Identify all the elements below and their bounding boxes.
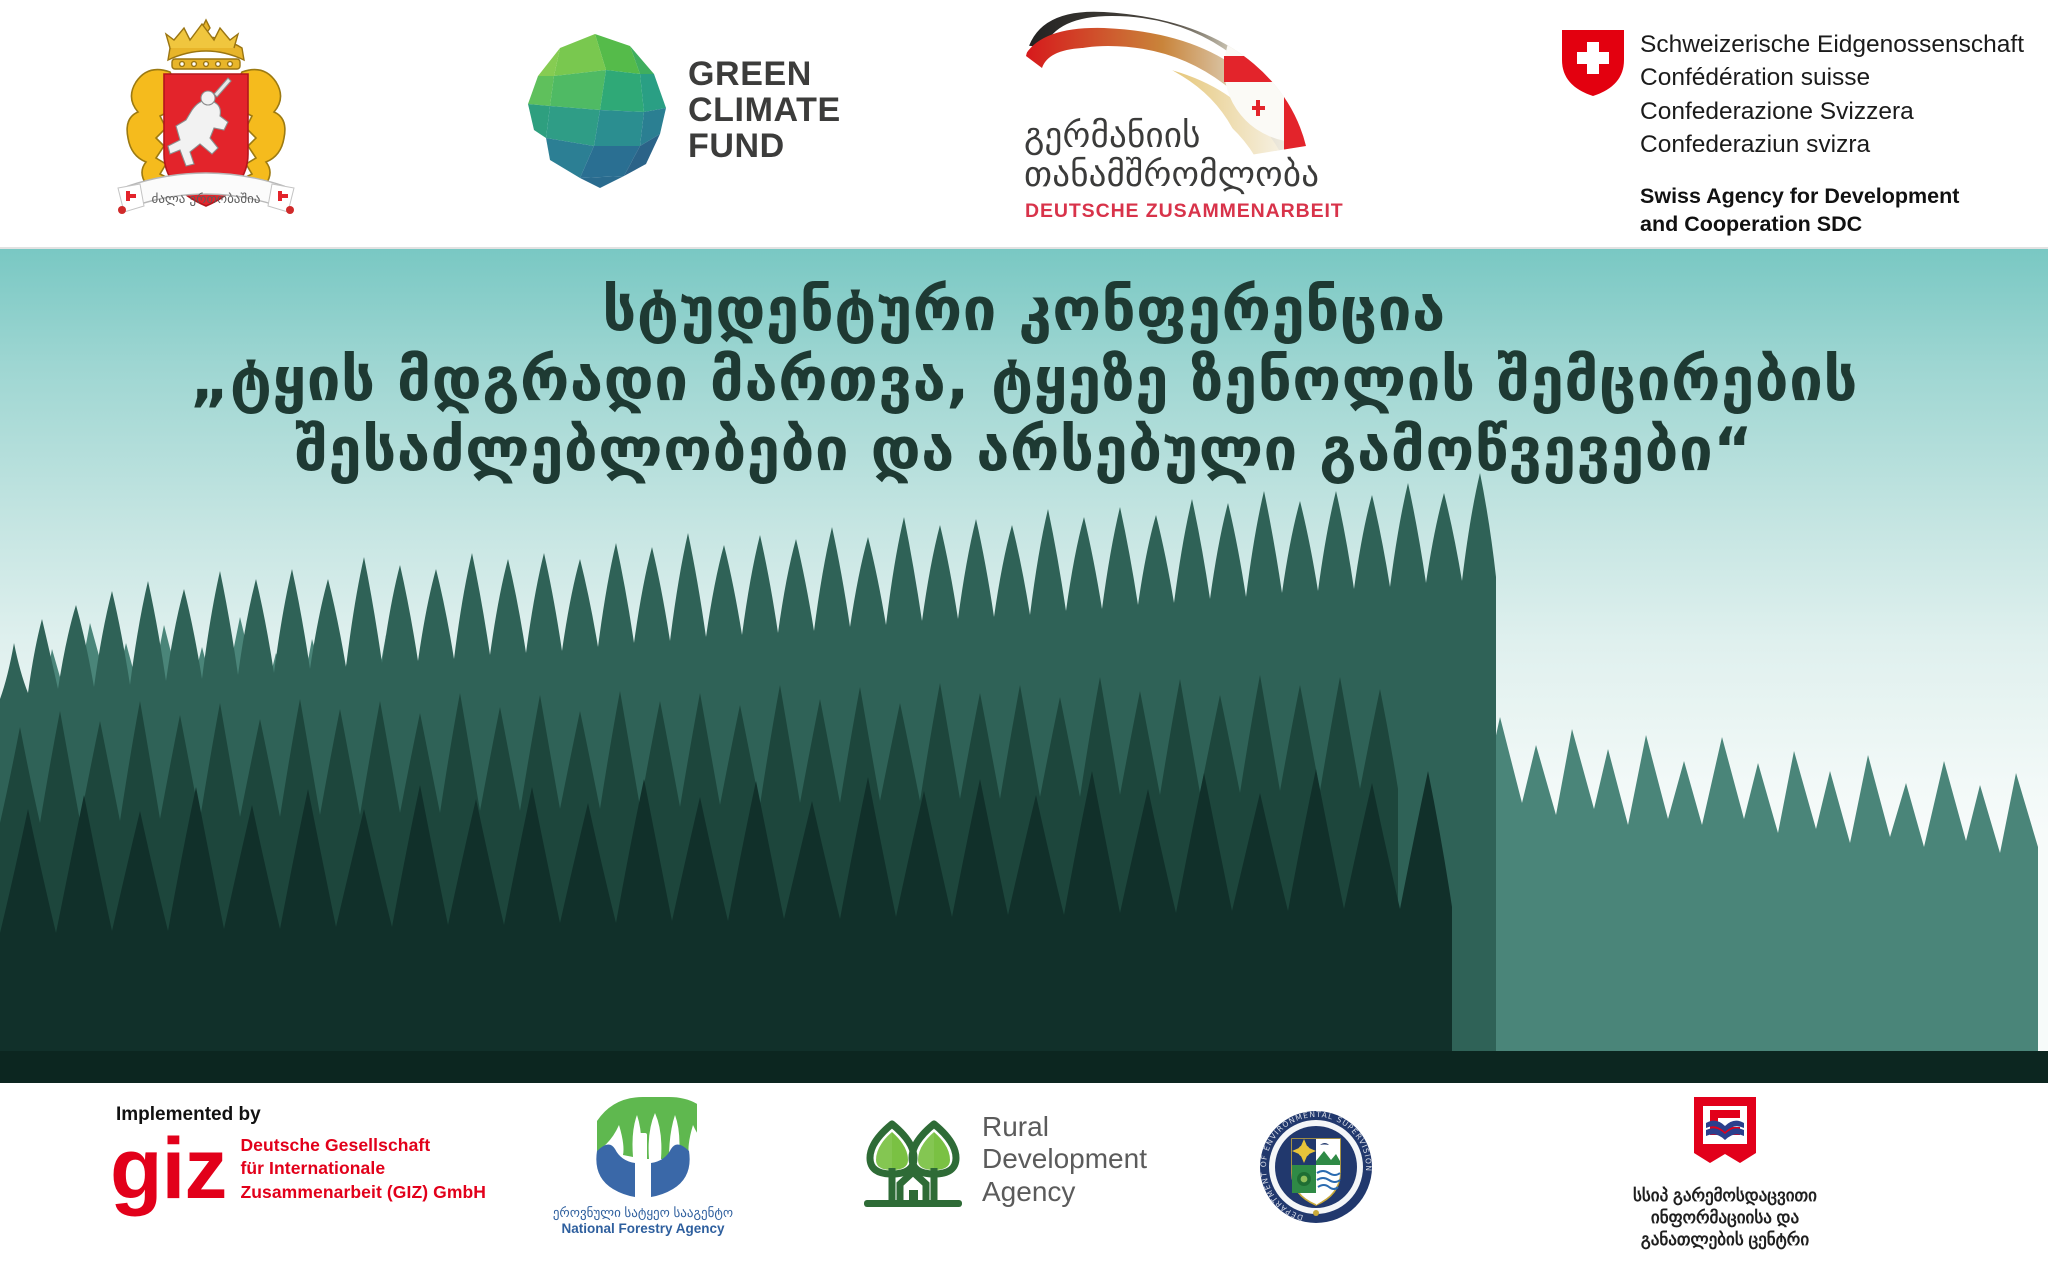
swiss-name-it: Confederazione Svizzera	[1640, 95, 2024, 128]
green-climate-fund-logo: GREEN CLIMATE FUND	[520, 30, 841, 190]
tree-canopy-roots-icon	[589, 1093, 697, 1201]
swiss-cross-shield-icon	[1562, 30, 1624, 96]
conference-title: სტუდენტური კონფერენცია „ტყის მდგრადი მარ…	[0, 275, 2048, 486]
gcf-line-1: GREEN	[688, 56, 841, 92]
national-forestry-agency-logo: ეროვნული სატყეო სააგენტო National Forest…	[548, 1093, 738, 1237]
department-of-environmental-supervision-logo: DEPARTMENT OF ENVIRONMENTAL SUPERVISION	[1258, 1109, 1374, 1225]
eiec-line-2: ინფორმაციისა და	[1560, 1207, 1890, 1229]
rda-line-3: Agency	[982, 1176, 1147, 1208]
gcf-line-2: CLIMATE	[688, 92, 841, 128]
german-cooperation-georgian-text: გერმანიის თანამშრომლობა	[1024, 116, 1344, 194]
deutsche-zusammenarbeit-label: DEUTSCHE ZUSAMMENARBEIT	[1025, 200, 1344, 223]
gcf-gem-icon	[520, 30, 670, 190]
sdc-line-2: and Cooperation SDC	[1640, 211, 1959, 239]
environmental-information-education-centre-logo: სსიპ გარემოსდაცვითი ინფორმაციისა და განა…	[1560, 1095, 1890, 1251]
gcf-line-3: FUND	[688, 128, 841, 164]
conifer-forest-silhouette	[0, 463, 2048, 1083]
environmental-supervision-emblem-icon: DEPARTMENT OF ENVIRONMENTAL SUPERVISION	[1258, 1109, 1374, 1225]
open-book-shield-icon	[1692, 1095, 1758, 1177]
swiss-confederation-names: Schweizerische Eidgenossenschaft Confédé…	[1640, 28, 2024, 161]
swiss-confederation-logo: Schweizerische Eidgenossenschaft Confédé…	[1562, 28, 2032, 228]
giz-name-line-2: für Internationale	[240, 1157, 486, 1180]
conference-banner-poster: ძალა ერთობაშია	[0, 0, 2048, 1271]
rda-line-2: Development	[982, 1143, 1147, 1175]
eiec-georgian-name: სსიპ გარემოსდაცვითი ინფორმაციისა და განა…	[1560, 1185, 1890, 1251]
giz-name-line-3: Zusammenarbeit (GIZ) GmbH	[240, 1181, 486, 1204]
gcf-wordmark: GREEN CLIMATE FUND	[688, 56, 841, 164]
bottom-logo-bar: Implemented by giz Deutsche Gesellschaft…	[0, 1083, 2048, 1271]
giz-wordmark: giz	[110, 1133, 226, 1205]
nfa-english-name: National Forestry Agency	[548, 1221, 738, 1237]
eiec-line-1: სსიპ გარემოსდაცვითი	[1560, 1185, 1890, 1207]
german-cooperation-georgian-line-2: თანამშრომლობა	[1024, 155, 1344, 194]
sdc-line-1: Swiss Agency for Development	[1640, 183, 1959, 211]
eiec-line-3: განათლების ცენტრი	[1560, 1229, 1890, 1251]
nfa-georgian-name: ეროვნული სატყეო სააგენტო	[548, 1205, 738, 1221]
rural-development-agency-logo: Rural Development Agency	[860, 1111, 1147, 1208]
top-logo-bar: ძალა ერთობაშია	[0, 0, 2048, 248]
swiss-sdc-label: Swiss Agency for Development and Coopera…	[1640, 183, 1959, 239]
german-cooperation-georgian-line-1: გერმანიის	[1024, 116, 1344, 155]
swiss-name-fr: Confédération suisse	[1640, 61, 2024, 94]
german-cooperation-logo: გერმანიის თანამშრომლობა DEUTSCHE ZUSAMME…	[1000, 4, 1380, 234]
coat-of-arms-of-georgia-logo: ძალა ერთობაშია	[96, 14, 316, 232]
coat-of-arms-motto: ძალა ერთობაშია	[152, 192, 261, 207]
title-line-2: „ტყის მდგრადი მართვა, ტყეზე ზენოლის შემც…	[0, 345, 2048, 415]
title-line-1: სტუდენტური კონფერენცია	[0, 275, 2048, 345]
swiss-name-rm: Confederaziun svizra	[1640, 128, 2024, 161]
giz-full-name: Deutsche Gesellschaft für Internationale…	[240, 1134, 486, 1204]
banner-artwork: სტუდენტური კონფერენცია „ტყის მდგრადი მარ…	[0, 249, 2048, 1083]
rda-line-1: Rural	[982, 1111, 1147, 1143]
rda-wordmark: Rural Development Agency	[982, 1111, 1147, 1208]
coat-of-arms-icon: ძალა ერთობაშია	[96, 14, 316, 232]
swiss-name-de: Schweizerische Eidgenossenschaft	[1640, 28, 2024, 61]
two-trees-house-icon	[860, 1112, 966, 1208]
forest-floor	[0, 1051, 2048, 1083]
giz-logo: giz Deutsche Gesellschaft für Internatio…	[110, 1133, 486, 1205]
giz-name-line-1: Deutsche Gesellschaft	[240, 1134, 486, 1157]
